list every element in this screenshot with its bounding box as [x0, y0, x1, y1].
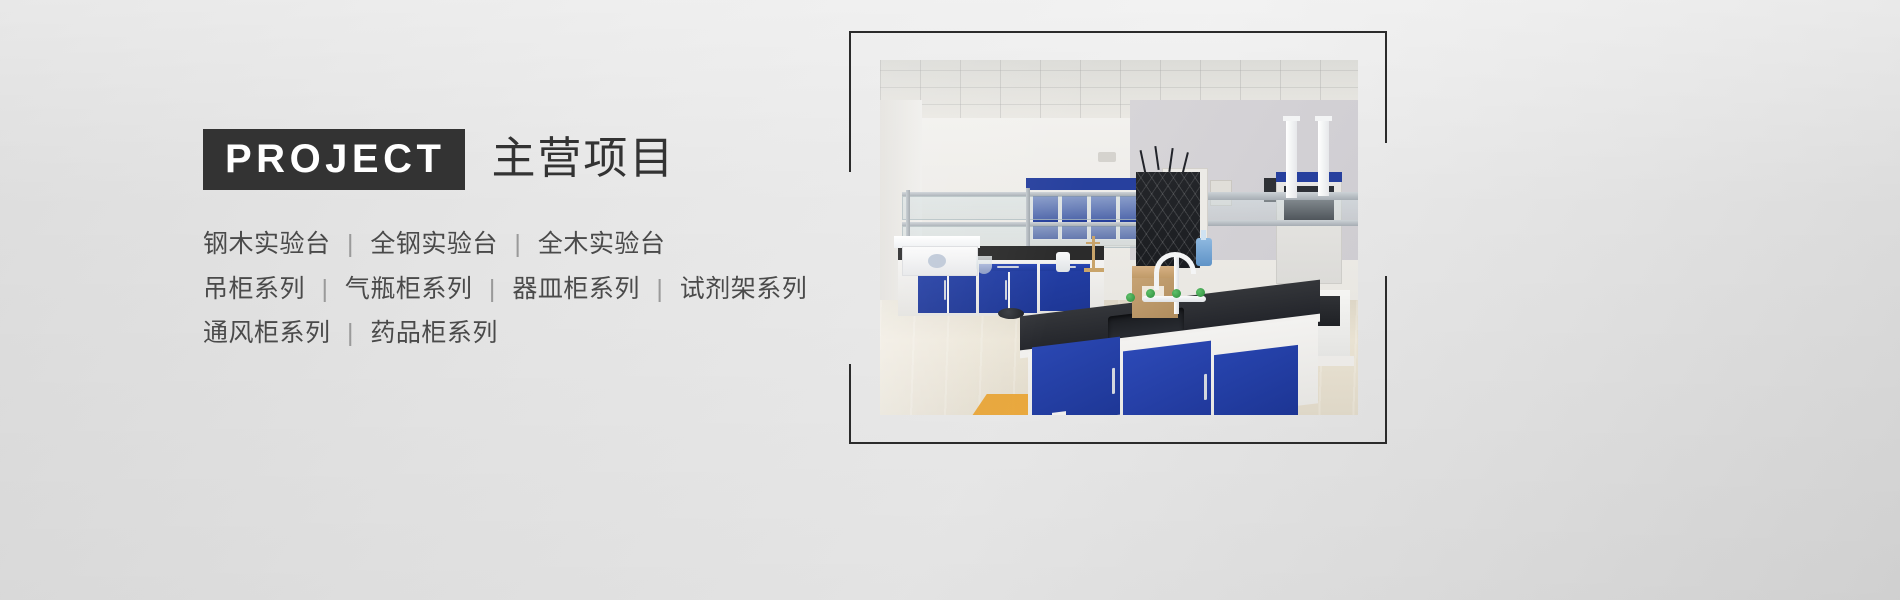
- photo-frame-right-upper-edge: [1385, 31, 1387, 143]
- photo-highlight-overlay: [880, 60, 1358, 415]
- category-item-glassware-cabinet[interactable]: 器皿柜系列: [512, 275, 640, 303]
- category-separator: |: [647, 275, 672, 303]
- category-separator: |: [312, 275, 337, 303]
- category-line-2: 吊柜系列 | 气瓶柜系列 | 器皿柜系列 | 试剂架系列: [203, 267, 863, 312]
- laboratory-photo: [880, 60, 1358, 415]
- category-item-all-steel-bench[interactable]: 全钢实验台: [370, 230, 498, 258]
- banner-text-column: PROJECT 主营项目 钢木实验台 | 全钢实验台 | 全木实验台 吊柜系列 …: [203, 128, 863, 356]
- project-banner: PROJECT 主营项目 钢木实验台 | 全钢实验台 | 全木实验台 吊柜系列 …: [0, 0, 1900, 600]
- page-title: 主营项目: [491, 137, 675, 181]
- banner-title-row: PROJECT 主营项目: [203, 128, 863, 190]
- category-item-gas-cylinder-cabinet[interactable]: 气瓶柜系列: [345, 275, 473, 303]
- category-separator: |: [338, 319, 363, 347]
- category-line-1: 钢木实验台 | 全钢实验台 | 全木实验台: [203, 222, 863, 267]
- category-item-reagent-rack[interactable]: 试剂架系列: [680, 275, 808, 303]
- photo-frame-bottom-edge: [849, 442, 1387, 444]
- project-photo-block: [849, 31, 1387, 444]
- category-item-all-wood-bench[interactable]: 全木实验台: [538, 230, 666, 258]
- category-line-3: 通风柜系列 | 药品柜系列: [203, 311, 863, 356]
- photo-frame-left-lower-edge: [849, 364, 851, 444]
- photo-frame-right-lower-edge: [1385, 276, 1387, 444]
- category-separator: |: [480, 275, 505, 303]
- category-item-steel-wood-bench[interactable]: 钢木实验台: [203, 230, 331, 258]
- category-separator: |: [338, 230, 363, 258]
- category-item-fume-hood[interactable]: 通风柜系列: [203, 319, 331, 347]
- category-list: 钢木实验台 | 全钢实验台 | 全木实验台 吊柜系列 | 气瓶柜系列 | 器皿柜…: [203, 222, 863, 356]
- category-item-wall-cabinet[interactable]: 吊柜系列: [203, 275, 305, 303]
- category-separator: |: [505, 230, 530, 258]
- photo-frame-top-edge: [849, 31, 1387, 33]
- project-eyebrow-badge: PROJECT: [203, 129, 465, 190]
- category-item-medicine-cabinet[interactable]: 药品柜系列: [370, 319, 498, 347]
